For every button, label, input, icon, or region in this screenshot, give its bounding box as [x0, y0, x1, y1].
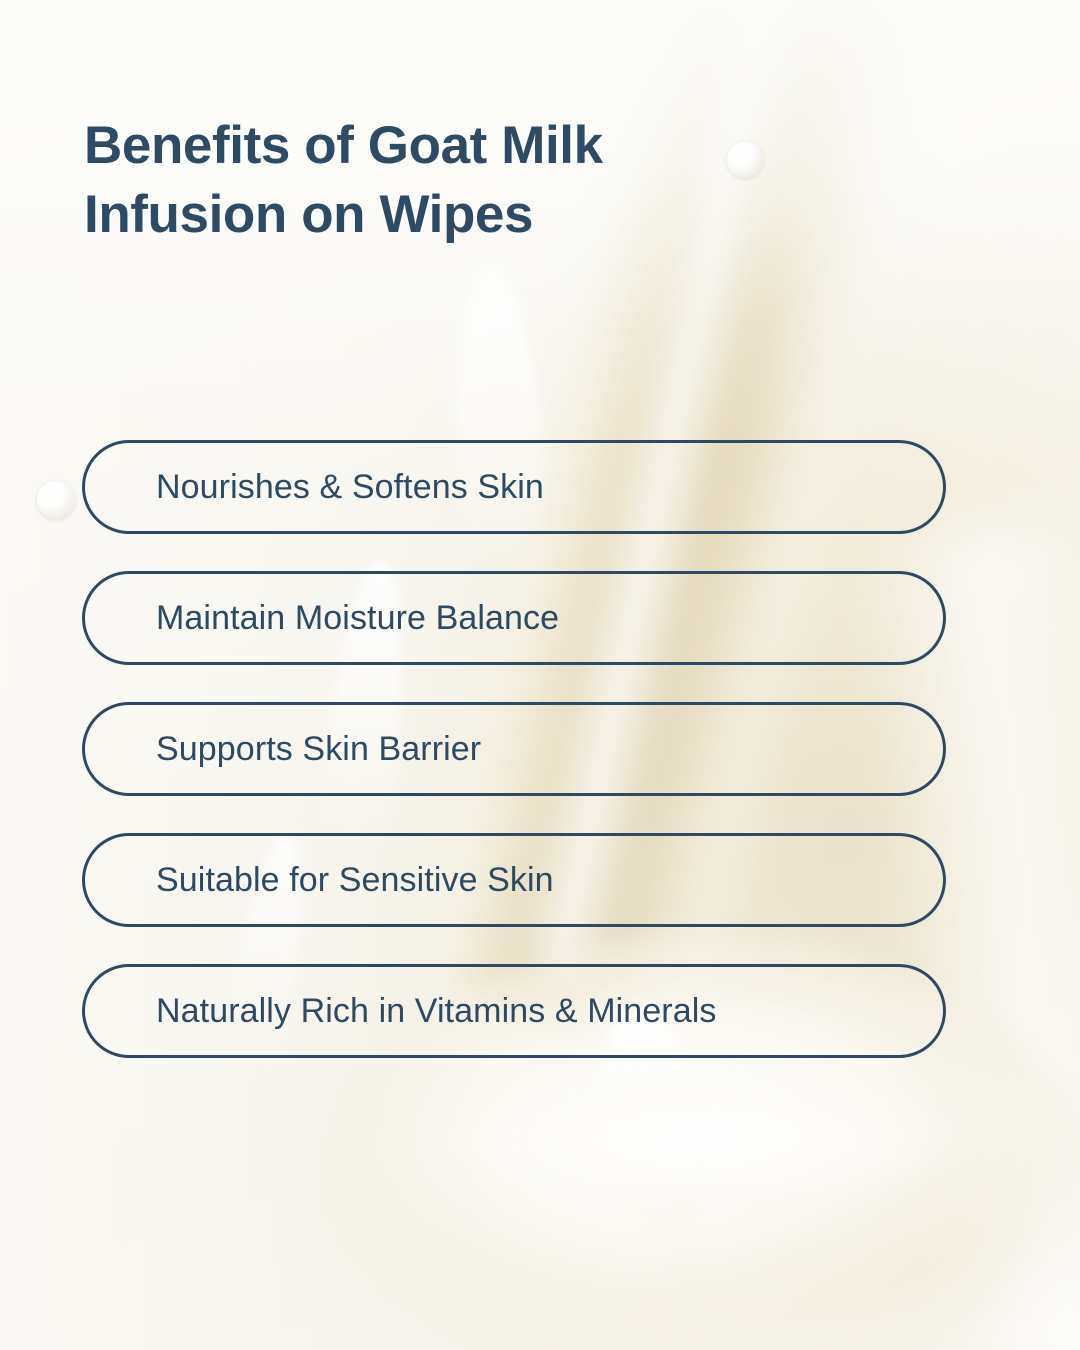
poster-canvas: Benefits of Goat Milk Infusion on Wipes …: [0, 0, 1080, 1350]
benefit-pill-nourishes-softens-skin[interactable]: Nourishes & Softens Skin: [82, 440, 946, 534]
page-title: Benefits of Goat Milk Infusion on Wipes: [84, 112, 844, 250]
benefit-label: Supports Skin Barrier: [85, 730, 481, 769]
benefit-pill-naturally-rich-vitamins-minerals[interactable]: Naturally Rich in Vitamins & Minerals: [82, 964, 946, 1058]
benefit-label: Nourishes & Softens Skin: [85, 468, 544, 507]
benefit-label: Maintain Moisture Balance: [85, 599, 559, 638]
poster-content: Benefits of Goat Milk Infusion on Wipes …: [0, 0, 1080, 1350]
benefit-label: Naturally Rich in Vitamins & Minerals: [85, 992, 716, 1031]
benefit-label: Suitable for Sensitive Skin: [85, 861, 554, 900]
benefit-pill-supports-skin-barrier[interactable]: Supports Skin Barrier: [82, 702, 946, 796]
benefit-pill-suitable-for-sensitive-skin[interactable]: Suitable for Sensitive Skin: [82, 833, 946, 927]
benefits-list: Nourishes & Softens Skin Maintain Moistu…: [82, 440, 946, 1058]
benefit-pill-maintain-moisture-balance[interactable]: Maintain Moisture Balance: [82, 571, 946, 665]
